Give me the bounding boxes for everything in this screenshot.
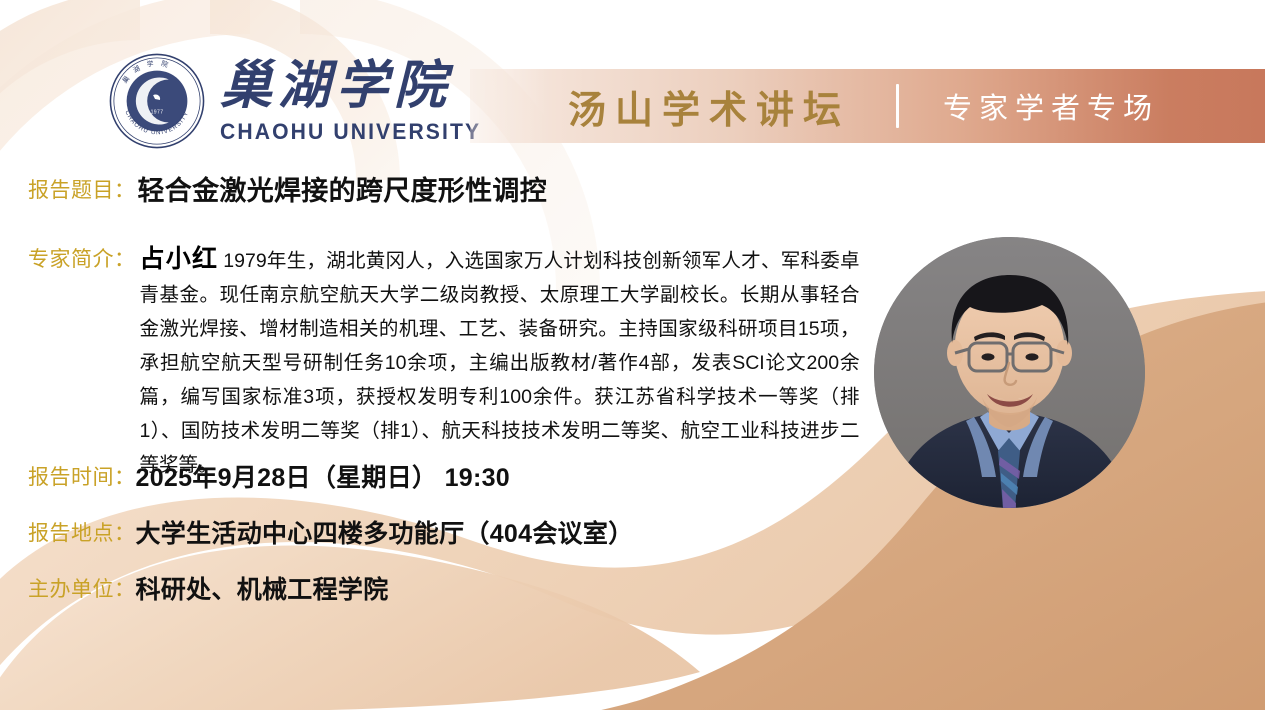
speaker-bio-row: 专家简介： 占小红1979年生，湖北黄冈人，入选国家万人计划科技创新领军人才、军…	[28, 242, 860, 482]
poster-header: 1977 巢湖学院 CHAOHU UNIVERSITY 巢湖学院 CHAOHU …	[0, 0, 1265, 160]
university-name-en: CHAOHU UNIVERSITY	[220, 119, 481, 145]
university-name-cn: 巢湖学院	[220, 61, 492, 113]
speaker-bio-label: 专家简介：	[28, 242, 136, 277]
speaker-bio-body: 占小红1979年生，湖北黄冈人，入选国家万人计划科技创新领军人才、军科委卓青基金…	[140, 242, 860, 482]
lecture-host-value: 科研处、机械工程学院	[136, 575, 389, 605]
poster-root: 1977 巢湖学院 CHAOHU UNIVERSITY 巢湖学院 CHAOHU …	[0, 0, 1265, 710]
banner-divider	[896, 84, 899, 128]
speaker-portrait-image	[874, 237, 1145, 508]
lecture-time-label: 报告时间：	[28, 463, 136, 493]
university-name-block: 巢湖学院 CHAOHU UNIVERSITY	[220, 61, 492, 145]
speaker-name: 占小红	[140, 245, 219, 273]
lecture-place-row: 报告地点： 大学生活动中心四楼多功能厅（404会议室）	[28, 519, 634, 549]
lecture-title-label: 报告题目：	[28, 176, 136, 206]
lecture-place-value: 大学生活动中心四楼多功能厅（404会议室）	[136, 519, 634, 549]
series-banner: 汤山学术讲坛 专家学者专场	[470, 69, 1265, 143]
wave-tail	[0, 545, 700, 710]
speaker-portrait	[874, 237, 1145, 508]
lecture-time-value: 2025年9月28日（星期日） 19:30	[136, 463, 511, 493]
lecture-time-row: 报告时间： 2025年9月28日（星期日） 19:30	[28, 463, 510, 493]
lecture-host-label: 主办单位：	[28, 575, 136, 605]
speaker-bio-text: 1979年生，湖北黄冈人，入选国家万人计划科技创新领军人才、军科委卓青基金。现任…	[140, 250, 860, 476]
lecture-title-row: 报告题目： 轻合金激光焊接的跨尺度形性调控	[28, 176, 547, 206]
svg-text:1977: 1977	[151, 110, 164, 116]
university-seal-icon: 1977 巢湖学院 CHAOHU UNIVERSITY	[108, 52, 206, 150]
lecture-host-row: 主办单位： 科研处、机械工程学院	[28, 575, 389, 605]
university-logo: 1977 巢湖学院 CHAOHU UNIVERSITY 巢湖学院 CHAOHU …	[108, 52, 492, 150]
banner-main-title: 汤山学术讲坛	[568, 79, 850, 134]
banner-sub-title: 专家学者专场	[943, 85, 1159, 127]
lecture-title-value: 轻合金激光焊接的跨尺度形性调控	[138, 176, 548, 206]
lecture-place-label: 报告地点：	[28, 519, 136, 549]
